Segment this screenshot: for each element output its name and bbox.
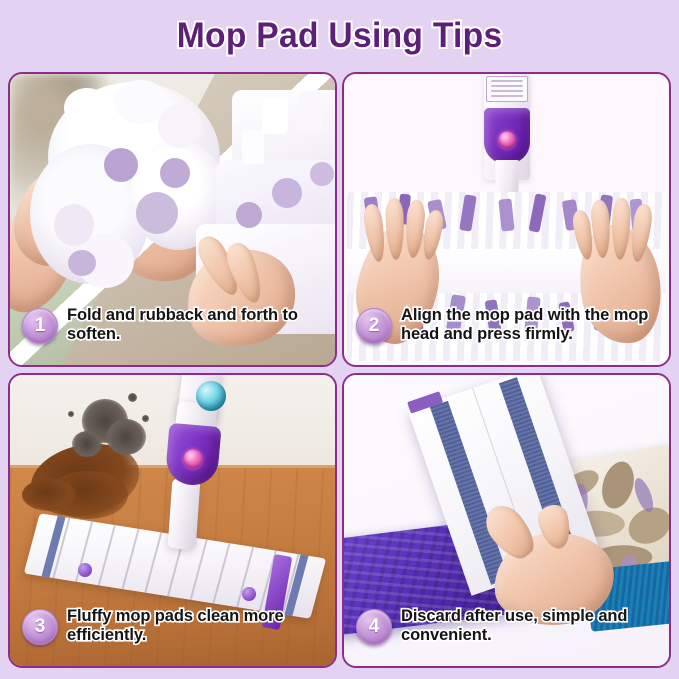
step-3-caption: 3 Fluffy mop pads clean more efficiently… [10, 592, 335, 666]
step-3-badge: 3 [22, 609, 58, 645]
page-title: Mop Pad Using Tips [177, 16, 503, 56]
step-2-badge: 2 [356, 308, 392, 344]
step-1-caption-text: Fold and rubback and forth to soften. [67, 306, 327, 344]
step-panel-4[interactable]: 4 Discard after use, simple and convenie… [342, 373, 671, 668]
step-panel-1[interactable]: 1 Fold and rubback and forth to soften. [8, 72, 337, 367]
step-panel-2[interactable]: 2 Align the mop pad with the mop head an… [342, 72, 671, 367]
step-1-badge: 1 [22, 308, 58, 344]
page-header: Mop Pad Using Tips [0, 0, 679, 72]
step-panel-3[interactable]: 3 Fluffy mop pads clean more efficiently… [8, 373, 337, 668]
mop-power-button-icon [184, 450, 203, 469]
step-4-caption-text: Discard after use, simple and convenient… [401, 607, 661, 645]
steps-grid: 1 Fold and rubback and forth to soften. [8, 72, 671, 672]
step-4-badge: 4 [356, 609, 392, 645]
mop-head-icon [484, 108, 530, 164]
step-3-caption-text: Fluffy mop pads clean more efficiently. [67, 607, 327, 645]
step-1-caption: 1 Fold and rubback and forth to soften. [10, 291, 335, 365]
mop-power-button-icon [498, 132, 515, 149]
step-2-caption: 2 Align the mop pad with the mop head an… [344, 291, 669, 365]
step-2-caption-text: Align the mop pad with the mop head and … [401, 306, 661, 344]
step-4-caption: 4 Discard after use, simple and convenie… [344, 592, 669, 666]
